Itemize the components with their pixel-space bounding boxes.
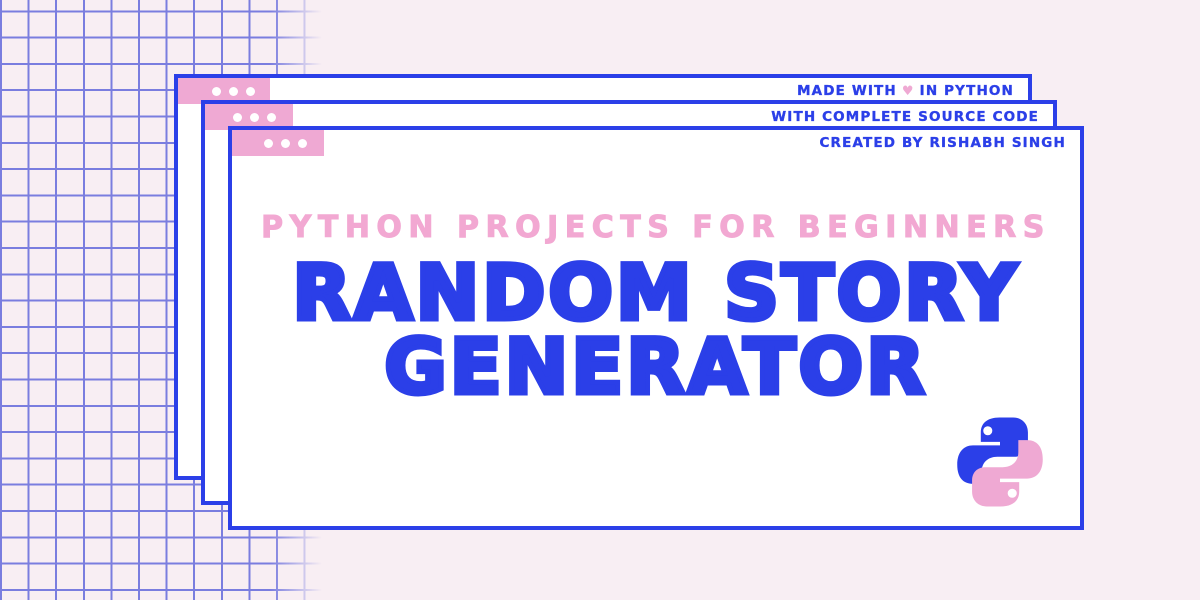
window-dot-icon[interactable] [246, 87, 255, 96]
poster-title-line-2: GENERATOR [232, 330, 1080, 404]
poster-eyebrow: PYTHON PROJECTS FOR BEGINNERS [232, 210, 1080, 245]
window-dot-icon[interactable] [229, 87, 238, 96]
tagline-created-by: CREATED BY RISHABH SINGH [820, 130, 1081, 156]
window-dot-icon[interactable] [281, 139, 290, 148]
poster-title-line-1: RANDOM STORY [232, 256, 1080, 330]
window-dot-icon[interactable] [298, 139, 307, 148]
window-dot-icon[interactable] [233, 113, 242, 122]
window-dot-icon[interactable] [212, 87, 221, 96]
tagline-prefix: MADE WITH [797, 83, 897, 99]
window-front-titlebar[interactable] [232, 130, 324, 156]
window-dot-icon[interactable] [264, 139, 273, 148]
window-front[interactable]: CREATED BY RISHABH SINGH PYTHON PROJECTS… [228, 126, 1084, 530]
tagline-suffix: IN PYTHON [920, 83, 1014, 99]
python-logo [952, 414, 1048, 510]
poster-content: PYTHON PROJECTS FOR BEGINNERS RANDOM STO… [232, 156, 1080, 526]
window-dot-icon[interactable] [250, 113, 259, 122]
poster-title: RANDOM STORY GENERATOR [232, 256, 1080, 404]
window-dot-icon[interactable] [267, 113, 276, 122]
heart-icon: ♥ [902, 84, 915, 99]
